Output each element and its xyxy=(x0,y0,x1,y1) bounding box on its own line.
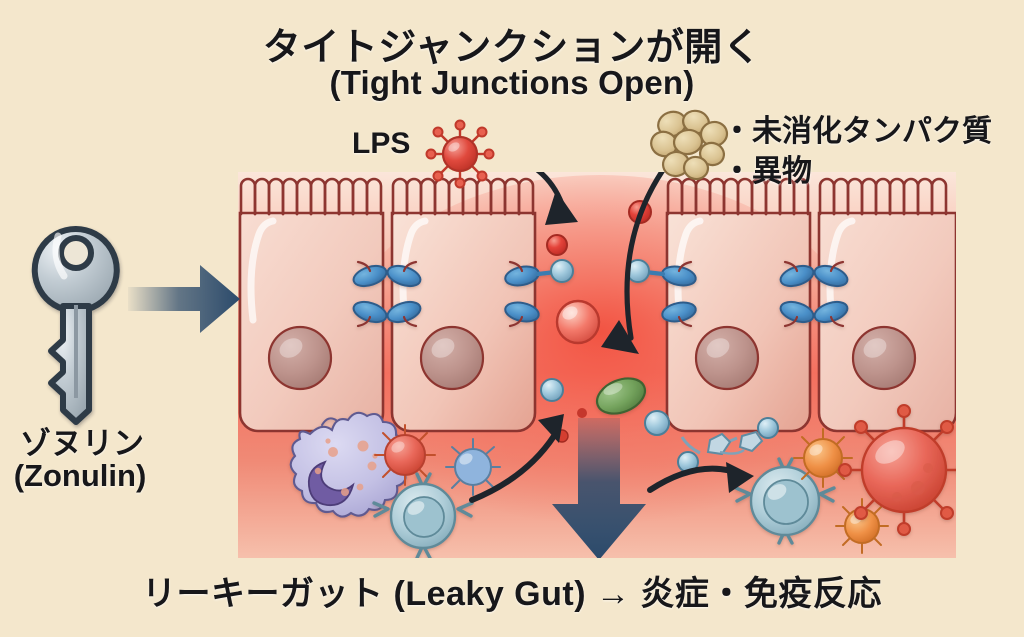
molecule-icon xyxy=(541,379,563,401)
undigested-protein-cluster-icon xyxy=(650,108,732,184)
legend-item-undigested-protein: ・未消化タンパク質 xyxy=(722,112,992,152)
key-icon xyxy=(35,229,117,422)
bottom-caption: リーキーガット (Leaky Gut) → 炎症・免疫反応 xyxy=(0,566,1024,615)
lps-virus-particle-icon xyxy=(424,118,496,190)
zonulin-label-en: (Zonulin) xyxy=(0,458,164,494)
micro-particle-icon xyxy=(577,408,587,418)
zonulin-entry-arrow-icon xyxy=(128,265,240,333)
page-title-jp: タイトジャンクションが開く xyxy=(0,16,1024,71)
particle-legend: ・未消化タンパク質 ・異物 xyxy=(722,112,992,192)
legend-item-foreign-substance: ・異物 xyxy=(722,152,992,192)
lps-particle-icon xyxy=(547,235,567,255)
cell-nucleus-icon xyxy=(269,327,331,389)
cell-nucleus-icon xyxy=(853,327,915,389)
orange-virus-icon xyxy=(375,425,435,485)
orange-virus-icon xyxy=(794,429,852,487)
red-virus-icon xyxy=(839,405,969,535)
page-title-en: (Tight Junctions Open) xyxy=(0,64,1024,102)
cell-nucleus-icon xyxy=(696,327,758,389)
lps-particle-icon xyxy=(557,301,599,343)
zonulin-label-jp: ゾヌリン xyxy=(0,418,166,463)
lps-label: LPS xyxy=(352,127,410,161)
cell-nucleus-icon xyxy=(421,327,483,389)
diagram-canvas: タイトジャンクションが開く (Tight Junctions Open) LPS… xyxy=(0,0,1024,637)
